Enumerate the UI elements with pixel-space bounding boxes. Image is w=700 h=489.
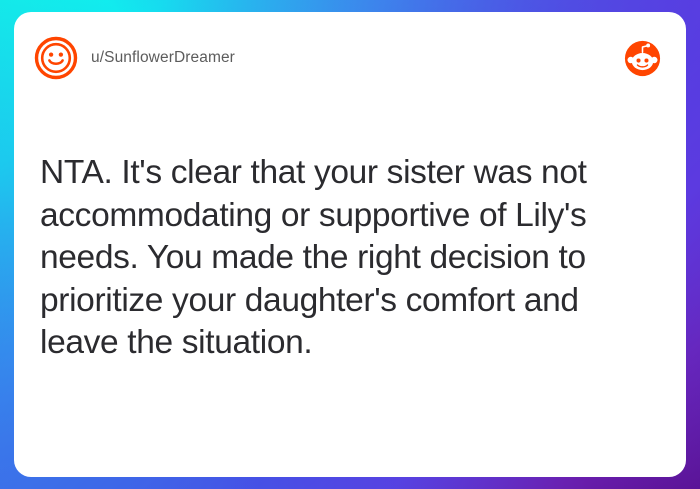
- post-header: u/SunflowerDreamer: [14, 12, 686, 104]
- post-body-text: NTA. It's clear that your sister was not…: [40, 152, 660, 365]
- avatar[interactable]: [34, 36, 78, 80]
- reddit-comment-card: u/SunflowerDreamer: [14, 12, 686, 477]
- screenshot-canvas: u/SunflowerDreamer: [0, 0, 700, 489]
- reddit-snoo-icon: [624, 40, 661, 77]
- username-label[interactable]: u/SunflowerDreamer: [91, 49, 235, 67]
